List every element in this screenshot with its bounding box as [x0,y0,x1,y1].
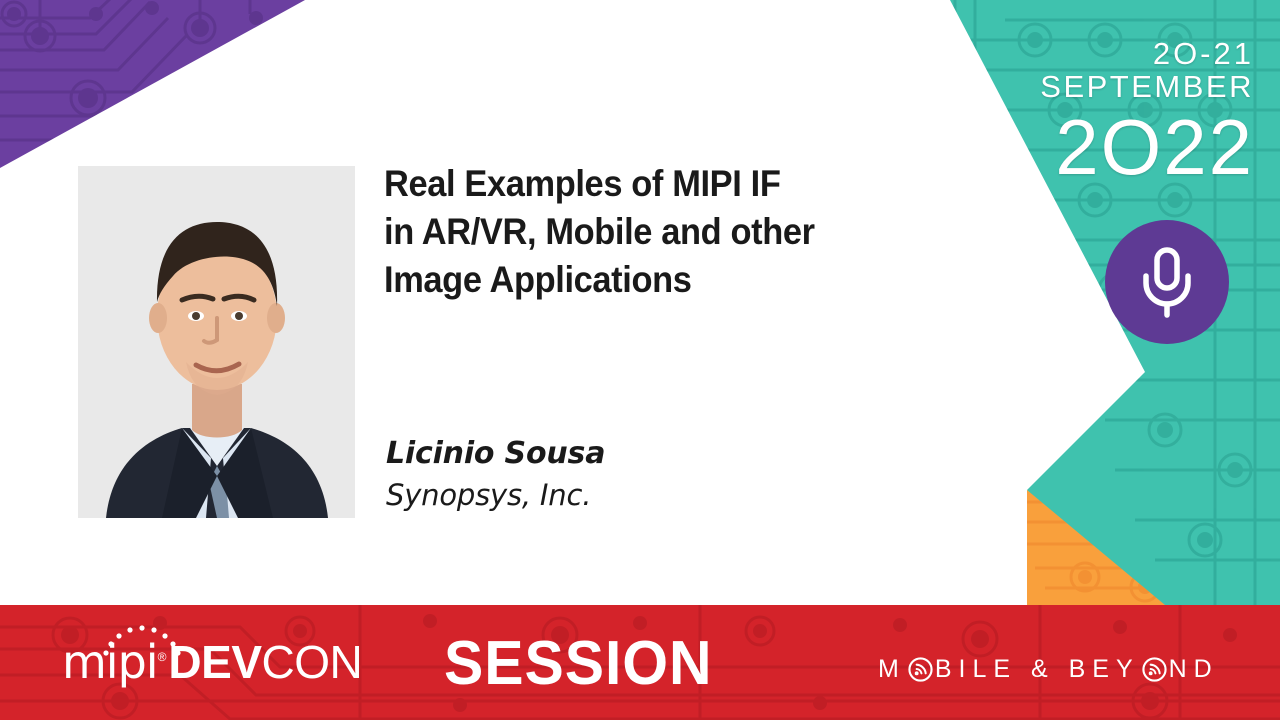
tagline-part-2: BILE & BEY [935,657,1140,682]
tagline-part-3: ND [1169,657,1219,682]
tagline-part-1: M [878,657,906,682]
session-title: Real Examples of MIPI IF in AR/VR, Mobil… [384,160,886,304]
event-date-days: 2O-21 [1040,38,1254,69]
purple-corner-shape [0,0,320,175]
signal-wave-o-icon-1 [908,657,933,682]
devcon-con-part: CON [262,636,363,688]
session-title-line-2: in AR/VR, Mobile and other [384,208,886,256]
microphone-badge [1105,220,1229,344]
microphone-icon [1136,245,1198,319]
devcon-wordmark: DEVCON [168,639,362,685]
mipi-devcon-logo: mipi ® DEVCON [62,639,362,685]
session-title-line-3: Image Applications [384,256,886,304]
session-title-line-1: Real Examples of MIPI IF [384,160,886,208]
devcon-dev-part: DEV [168,636,261,688]
footer-band: mipi ® DEVCON SESSION M BILE & BEY ND [0,605,1280,720]
session-label: SESSION [444,633,713,695]
devcon-session-slide: 2O-21 SEPTEMBER 2O22 [0,0,1280,720]
mobile-and-beyond-tagline: M BILE & BEY ND [878,657,1219,682]
event-date-block: 2O-21 SEPTEMBER 2O22 [1040,38,1254,183]
registered-trademark-icon: ® [158,651,167,663]
circuit-pattern-purple [0,0,320,175]
speaker-photo [78,166,355,518]
mipi-wordmark: mipi [62,639,158,685]
speaker-name: Licinio Sousa [386,436,605,471]
signal-wave-o-icon-2 [1142,657,1167,682]
event-date-year: 2O22 [1040,112,1254,184]
event-date-month: SEPTEMBER [1040,69,1254,106]
speaker-organization: Synopsys, Inc. [386,478,591,512]
speaker-headshot-illustration [78,166,355,518]
